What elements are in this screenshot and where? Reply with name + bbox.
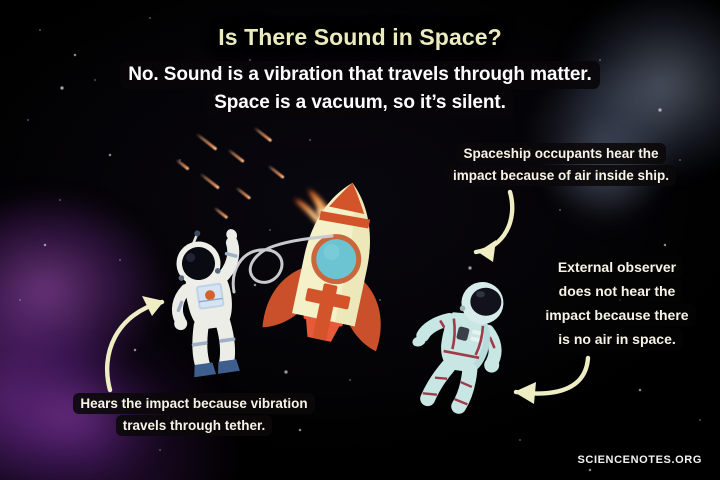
callout-tether-line-2: travels through tether. — [116, 415, 273, 436]
subtitle-line-1: No. Sound is a vibration that travels th… — [120, 61, 599, 89]
callout-spaceship-line-2: impact because of air inside ship. — [446, 165, 676, 186]
arrow-to-spaceship-icon — [392, 186, 520, 272]
callout-observer-line-1: External observer — [551, 256, 683, 279]
arrow-to-tethered-astronaut-icon — [96, 282, 206, 394]
callout-observer-line-2: does not hear the — [552, 280, 683, 303]
page-title: Is There Sound in Space? — [0, 24, 720, 51]
subtitle-block: No. Sound is a vibration that travels th… — [0, 61, 720, 117]
arrow-to-external-observer-icon — [476, 352, 594, 414]
callout-observer-line-3: impact because there — [538, 304, 695, 327]
site-watermark: SCIENCENOTES.ORG — [577, 454, 702, 466]
infographic-canvas: Is There Sound in Space? No. Sound is a … — [0, 0, 720, 480]
subtitle-line-2: Space is a vacuum, so it’s silent. — [206, 89, 514, 117]
callout-tether-line-1: Hears the impact because vibration — [73, 393, 314, 414]
callout-observer-line-4: is no air in space. — [551, 328, 683, 351]
callout-spaceship-occupants: Spaceship occupants hear the impact beca… — [424, 142, 698, 186]
callout-tethered-astronaut: Hears the impact because vibration trave… — [34, 392, 354, 436]
callout-spaceship-line-1: Spaceship occupants hear the — [456, 143, 665, 164]
callout-external-observer: External observer does not hear the impa… — [522, 255, 712, 351]
